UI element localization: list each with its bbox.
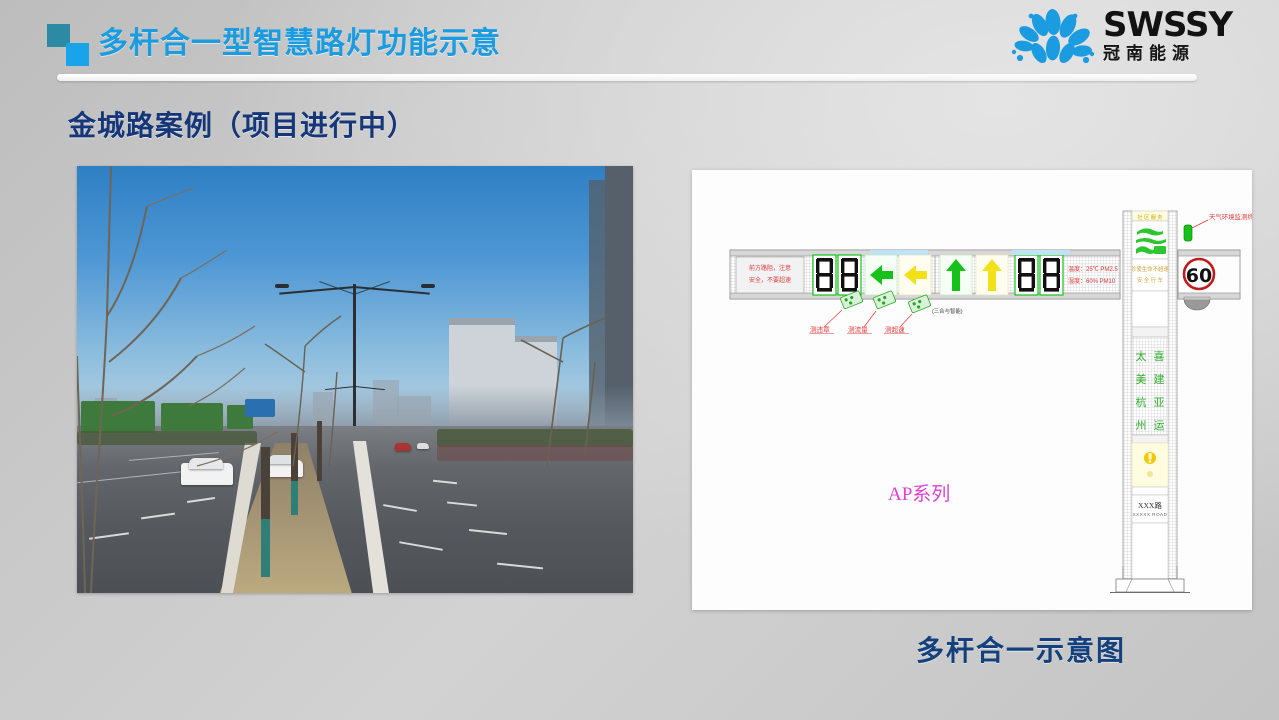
section-subtitle: 金城路案例（项目进行中） — [68, 104, 416, 144]
photo-car — [417, 443, 429, 449]
multi-pole-schematic: 前方路阻，注意 安全，不要超速 — [692, 170, 1252, 610]
svg-text:温度：25℃ PM2.5: 温度：25℃ PM2.5 — [1068, 265, 1118, 273]
diagram-watermark: AP系列 — [888, 483, 950, 505]
page-title: 多杆合一型智慧路灯功能示意 — [98, 18, 501, 62]
photo-tree-paint — [291, 481, 298, 515]
photo-hedge — [437, 445, 633, 461]
svg-text:测违章: 测违章 — [810, 325, 830, 334]
photo-car — [395, 443, 411, 451]
svg-text:测超速: 测超速 — [885, 325, 905, 334]
svg-text:杭: 杭 — [1136, 395, 1147, 409]
photo-road-sign — [245, 399, 275, 417]
header-divider — [57, 74, 1197, 81]
svg-text:前方路阻，注意: 前方路阻，注意 — [749, 264, 791, 272]
photo-building — [515, 336, 557, 342]
svg-text:湿度：60% PM10: 湿度：60% PM10 — [1068, 277, 1116, 285]
svg-text:安 全 行 车: 安 全 行 车 — [1137, 276, 1164, 284]
svg-text:XXXXX ROAD: XXXXX ROAD — [1133, 512, 1168, 517]
svg-text:XXX路: XXX路 — [1138, 500, 1162, 510]
svg-text:社 区 服 务: 社 区 服 务 — [1137, 213, 1162, 221]
svg-text:安全，不要超速: 安全，不要超速 — [749, 276, 791, 284]
slide-root: 多杆合一型智慧路灯功能示意 — [0, 0, 1279, 720]
brand-logo: SWSSY 冠南能源 — [1007, 6, 1267, 72]
brand-logo-text: SWSSY 冠南能源 — [1103, 8, 1232, 64]
photo-building — [449, 318, 515, 325]
svg-text:测流量: 测流量 — [848, 325, 868, 334]
brand-name-en: SWSSY — [1103, 8, 1232, 42]
photo-car-roof — [189, 458, 223, 469]
svg-text:美: 美 — [1136, 373, 1147, 386]
photo-truck — [81, 401, 155, 433]
swssy-petal-logo-icon — [1007, 8, 1099, 70]
svg-text:运: 运 — [1154, 419, 1165, 432]
bullet-square-bright — [66, 43, 89, 66]
photo-hedge — [77, 431, 257, 445]
brand-name-cn: 冠南能源 — [1103, 44, 1232, 64]
photo-streetlight-lamp — [421, 284, 435, 288]
svg-text:喜: 喜 — [1154, 350, 1165, 363]
svg-text:建: 建 — [1154, 372, 1165, 386]
pole-diagram-panel: 前方路阻，注意 安全，不要超速 — [692, 170, 1252, 610]
svg-text:60: 60 — [1186, 265, 1212, 287]
photo-truck — [161, 403, 223, 431]
square-bullet-icon — [47, 24, 89, 66]
photo-tree-paint — [261, 519, 270, 577]
svg-text:亚: 亚 — [1154, 397, 1165, 409]
svg-text:太: 太 — [1136, 350, 1147, 363]
photo-tree — [317, 421, 322, 481]
diagram-caption: 多杆合一示意图 — [916, 629, 1126, 669]
svg-text:珍爱生命不超速: 珍爱生命不超速 — [1131, 265, 1169, 273]
svg-text:州: 州 — [1136, 420, 1147, 432]
svg-text:天气环境监测终端: 天气环境监测终端 — [1209, 212, 1252, 221]
site-photo — [77, 166, 633, 593]
photo-streetlight-lamp — [275, 284, 289, 288]
svg-text:(三合与智能): (三合与智能) — [932, 307, 963, 315]
